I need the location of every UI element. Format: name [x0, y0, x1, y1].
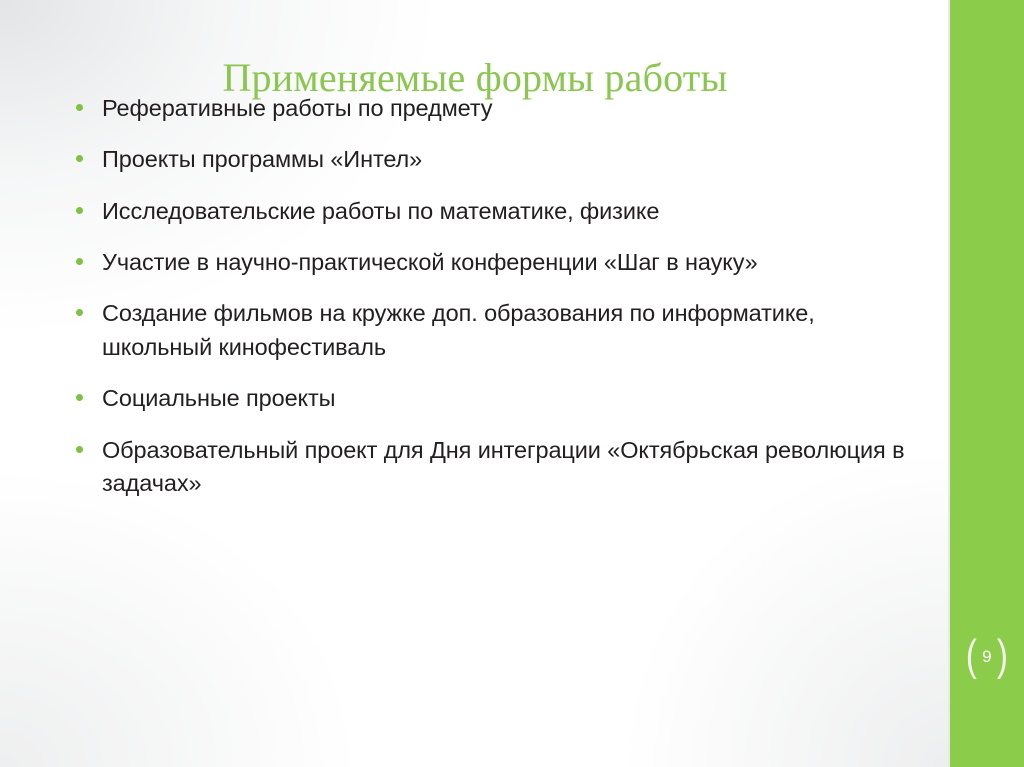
list-item: Проекты программы «Интел»	[70, 143, 930, 176]
list-item-label: Создание фильмов на кружке доп. образова…	[102, 297, 930, 364]
list-item: Создание фильмов на кружке доп. образова…	[70, 297, 930, 364]
presentation-slide: Применяемые формы работы Реферативные ра…	[0, 0, 1024, 767]
bullet-list: Реферативные работы по предмету Проекты …	[70, 92, 930, 500]
list-item-label: Реферативные работы по предмету	[102, 92, 930, 125]
list-item: Исследовательские работы по математике, …	[70, 195, 930, 228]
bullet-dot-icon	[76, 104, 83, 111]
list-item: Образовательный проект для Дня интеграци…	[70, 434, 930, 501]
list-item-label: Участие в научно-практической конференци…	[102, 246, 930, 279]
bullet-dot-icon	[76, 446, 83, 453]
list-item: Реферативные работы по предмету	[70, 92, 930, 125]
list-item-label: Проекты программы «Интел»	[102, 143, 930, 176]
list-item: Социальные проекты	[70, 382, 930, 415]
bullet-dot-icon	[76, 207, 83, 214]
list-item-label: Образовательный проект для Дня интеграци…	[102, 434, 930, 501]
list-item-label: Исследовательские работы по математике, …	[102, 195, 930, 228]
bullet-dot-icon	[76, 258, 83, 265]
page-number-badge: ( 9 )	[950, 628, 1024, 684]
bracket-right-icon: )	[997, 634, 1008, 678]
bullet-dot-icon	[76, 155, 83, 162]
bullet-dot-icon	[76, 309, 83, 316]
list-item-label: Социальные проекты	[102, 382, 930, 415]
corner-vignette-bottom-left	[0, 467, 360, 767]
bracket-left-icon: (	[966, 634, 977, 678]
list-item: Участие в научно-практической конференци…	[70, 246, 930, 279]
bullet-dot-icon	[76, 394, 83, 401]
page-number-value: 9	[981, 648, 993, 665]
